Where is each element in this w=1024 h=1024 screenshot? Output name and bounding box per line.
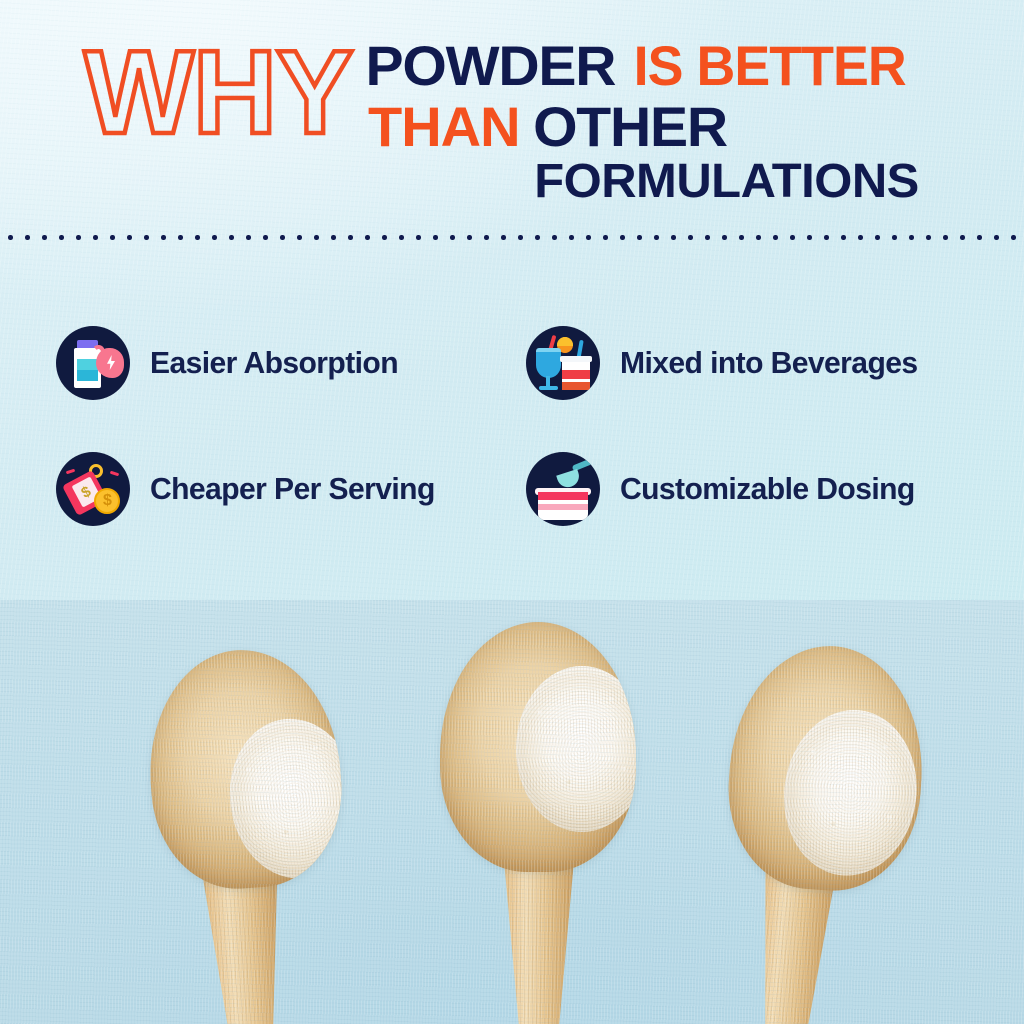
feature-item-mixed-into-beverages: Mixed into Beverages — [526, 300, 996, 426]
sparkle-right-shape — [110, 471, 119, 477]
feature-label: Cheaper Per Serving — [150, 471, 435, 507]
spoon-handle — [496, 848, 582, 1024]
feature-label: Mixed into Beverages — [620, 345, 918, 381]
coin-dollar-glyph: $ — [103, 492, 112, 509]
headline-line-2: THAN OTHER — [368, 96, 1018, 158]
headline-word-powder: POWDER — [366, 34, 616, 98]
sparkle-left-shape — [66, 469, 75, 475]
feature-label: Customizable Dosing — [620, 471, 915, 507]
spoon-left — [110, 622, 380, 1024]
cocktail-glass-shape — [536, 352, 561, 378]
cup-lid-shape — [560, 356, 592, 362]
supplement-bottle-stomach-icon — [56, 326, 130, 400]
price-tag-coin-icon: $ $ — [56, 452, 130, 526]
poster-canvas: WHY POWDER IS BETTER THAN OTHER FORMULAT… — [0, 0, 1024, 1024]
headline-word-is-better: IS BETTER — [634, 34, 906, 98]
spoon-bowl — [142, 644, 348, 895]
feature-item-easier-absorption: Easier Absorption — [56, 300, 526, 426]
spoon-right — [700, 622, 990, 1024]
spoon-bowl — [440, 622, 636, 872]
cocktail-foot-shape — [539, 386, 558, 390]
headline-line-1: POWDER IS BETTER — [368, 34, 1018, 98]
powder-mound — [220, 711, 348, 887]
headline-lines: POWDER IS BETTER THAN OTHER FORMULATIONS — [368, 34, 1018, 210]
tub-stripe-mid-shape — [538, 504, 588, 510]
scoop-cup-shape — [556, 469, 582, 490]
orange-slice-top-shape — [557, 337, 573, 346]
bottle-liquid-dark-shape — [77, 370, 98, 381]
dotted-divider — [0, 232, 1024, 242]
feature-item-customizable-dosing: Customizable Dosing — [526, 426, 996, 552]
feature-item-cheaper-per-serving: $ $ Cheaper Per Serving — [56, 426, 526, 552]
feature-grid: Easier Absorption Mixed into Beverages — [0, 300, 1024, 552]
tub-scoop-icon — [526, 452, 600, 526]
powder-mound — [775, 702, 926, 883]
dotted-divider-line — [0, 233, 1024, 242]
powder-mound — [516, 666, 636, 832]
tub-stripe-top-shape — [538, 492, 588, 500]
headline-why: WHY — [84, 36, 352, 150]
cup-base-shape — [562, 382, 590, 390]
spoon-bowl — [722, 640, 931, 897]
headline-line-3: FORMULATIONS — [368, 154, 1018, 210]
headline-word-other: OTHER — [533, 96, 727, 158]
spoon-mid — [400, 622, 676, 1024]
cup-stripe-shape — [562, 370, 590, 379]
headline-word-formulations: FORMULATIONS — [534, 154, 919, 210]
feature-label: Easier Absorption — [150, 345, 398, 381]
beverage-drinks-icon — [526, 326, 600, 400]
headline: WHY POWDER IS BETTER THAN OTHER FORMULAT… — [0, 34, 1024, 224]
product-photo — [0, 600, 1024, 1024]
headline-word-than: THAN — [368, 96, 520, 158]
